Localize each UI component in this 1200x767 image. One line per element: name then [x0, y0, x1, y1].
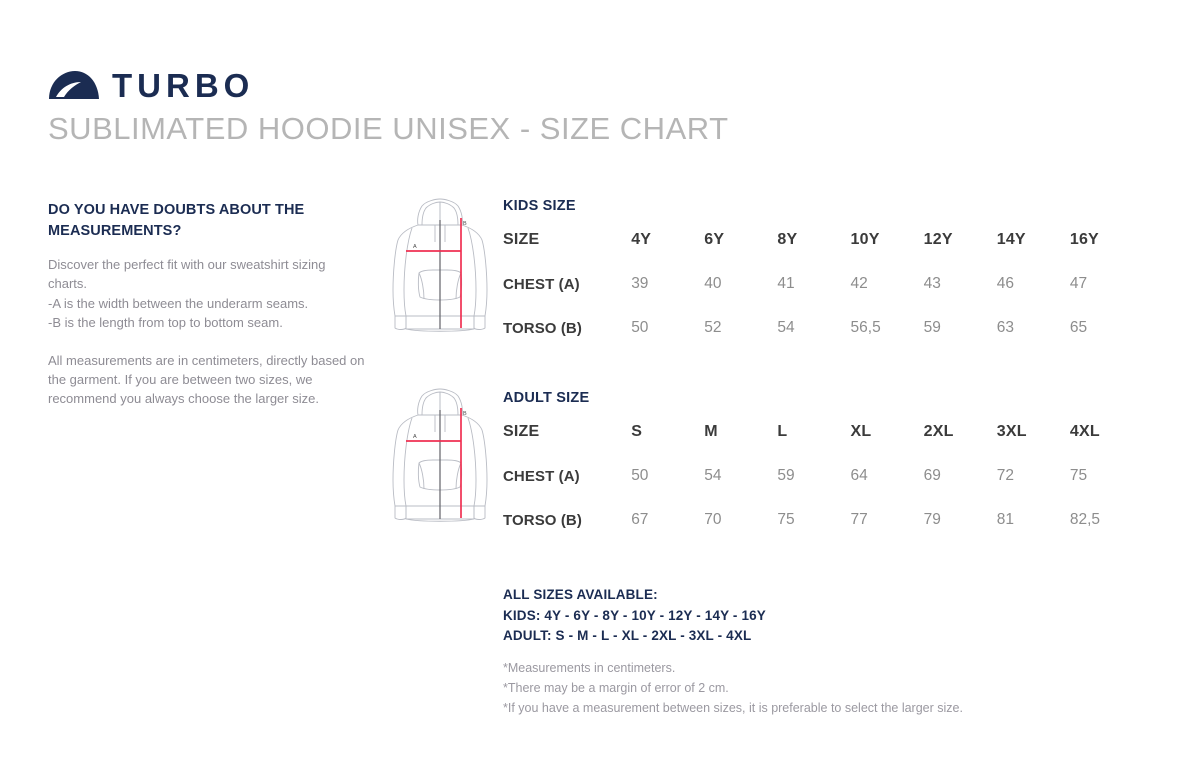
kids-cell: 39 [631, 262, 704, 306]
info-heading: DO YOU HAVE DOUBTS ABOUT THE MEASUREMENT… [48, 200, 368, 242]
figure-label-b: B [463, 411, 467, 417]
adult-size-caption: ADULT SIZE [503, 390, 1143, 406]
kids-cell: 56,5 [851, 306, 924, 350]
adult-cell: 50 [631, 454, 704, 498]
kids-col-header: 8Y [777, 218, 850, 262]
brand-name: TURBO [112, 69, 254, 102]
info-paragraph-2: All measurements are in centimeters, dir… [48, 351, 368, 409]
page-title: SUBLIMATED HOODIE UNISEX - SIZE CHART [48, 110, 1148, 149]
kids-col-header: 12Y [924, 218, 997, 262]
measurement-info-panel: DO YOU HAVE DOUBTS ABOUT THE MEASUREMENT… [48, 200, 368, 409]
adult-size-table: SIZE S M L XL 2XL 3XL 4XL CHEST (A) 50 5… [503, 410, 1143, 542]
kids-cell: 59 [924, 306, 997, 350]
wave-dome-icon [48, 70, 100, 100]
kids-label-header: SIZE [503, 218, 631, 262]
adult-cell: 72 [997, 454, 1070, 498]
adult-cell: 67 [631, 498, 704, 542]
kids-col-header: 10Y [851, 218, 924, 262]
footnote-1: *Measurements in centimeters. [503, 659, 963, 679]
sizes-available-block: ALL SIZES AVAILABLE: KIDS: 4Y - 6Y - 8Y … [503, 585, 766, 647]
adult-row-label: CHEST (A) [503, 454, 631, 498]
adult-cell: 70 [704, 498, 777, 542]
adult-col-header: L [777, 410, 850, 454]
kids-cell: 47 [1070, 262, 1143, 306]
kids-size-table: SIZE 4Y 6Y 8Y 10Y 12Y 14Y 16Y CHEST (A) … [503, 218, 1143, 350]
adult-col-header: 3XL [997, 410, 1070, 454]
sizes-available-adult: ADULT: S - M - L - XL - 2XL - 3XL - 4XL [503, 626, 766, 647]
adult-row-label: TORSO (B) [503, 498, 631, 542]
kids-col-header: 14Y [997, 218, 1070, 262]
kids-size-section: KIDS SIZE SIZE 4Y 6Y 8Y 10Y 12Y 14Y 16Y [503, 198, 1143, 350]
kids-cell: 42 [851, 262, 924, 306]
table-row: CHEST (A) 50 54 59 64 69 72 75 [503, 454, 1143, 498]
adult-size-section: ADULT SIZE SIZE S M L XL 2XL 3XL 4XL [503, 390, 1143, 542]
kids-cell: 40 [704, 262, 777, 306]
table-row: TORSO (B) 67 70 75 77 79 81 82,5 [503, 498, 1143, 542]
size-chart-page: TURBO SUBLIMATED HOODIE UNISEX - SIZE CH… [0, 0, 1200, 767]
adult-col-header: M [704, 410, 777, 454]
adult-cell: 77 [851, 498, 924, 542]
figure-label-b: B [463, 221, 467, 227]
table-row: CHEST (A) 39 40 41 42 43 46 47 [503, 262, 1143, 306]
adult-col-header: 2XL [924, 410, 997, 454]
brand-logo: TURBO [48, 66, 1148, 104]
adult-cell: 64 [851, 454, 924, 498]
footnote-2: *There may be a margin of error of 2 cm. [503, 679, 963, 699]
figure-label-a: A [413, 434, 417, 440]
hoodie-diagram-adult: A B [388, 388, 492, 543]
kids-cell: 41 [777, 262, 850, 306]
hoodie-diagram-kids: A B [388, 198, 492, 353]
adult-cell: 59 [777, 454, 850, 498]
adult-cell: 75 [1070, 454, 1143, 498]
sizes-available-kids: KIDS: 4Y - 6Y - 8Y - 10Y - 12Y - 14Y - 1… [503, 606, 766, 627]
info-paragraph-1: Discover the perfect fit with our sweats… [48, 255, 368, 332]
adult-cell: 69 [924, 454, 997, 498]
kids-size-caption: KIDS SIZE [503, 198, 1143, 214]
kids-col-header: 6Y [704, 218, 777, 262]
kids-cell: 54 [777, 306, 850, 350]
adult-col-header: 4XL [1070, 410, 1143, 454]
footnotes-block: *Measurements in centimeters. *There may… [503, 659, 963, 718]
adult-cell: 81 [997, 498, 1070, 542]
kids-cell: 46 [997, 262, 1070, 306]
kids-row-label: CHEST (A) [503, 262, 631, 306]
adult-cell: 54 [704, 454, 777, 498]
table-row: TORSO (B) 50 52 54 56,5 59 63 65 [503, 306, 1143, 350]
kids-cell: 63 [997, 306, 1070, 350]
footnote-3: *If you have a measurement between sizes… [503, 699, 963, 719]
adult-cell: 75 [777, 498, 850, 542]
table-header-row: SIZE 4Y 6Y 8Y 10Y 12Y 14Y 16Y [503, 218, 1143, 262]
kids-col-header: 4Y [631, 218, 704, 262]
adult-cell: 82,5 [1070, 498, 1143, 542]
adult-label-header: SIZE [503, 410, 631, 454]
kids-cell: 43 [924, 262, 997, 306]
kids-cell: 65 [1070, 306, 1143, 350]
kids-cell: 50 [631, 306, 704, 350]
page-header: TURBO SUBLIMATED HOODIE UNISEX - SIZE CH… [48, 66, 1148, 149]
figure-label-a: A [413, 244, 417, 250]
adult-col-header: S [631, 410, 704, 454]
adult-col-header: XL [851, 410, 924, 454]
adult-cell: 79 [924, 498, 997, 542]
kids-cell: 52 [704, 306, 777, 350]
kids-row-label: TORSO (B) [503, 306, 631, 350]
kids-col-header: 16Y [1070, 218, 1143, 262]
table-header-row: SIZE S M L XL 2XL 3XL 4XL [503, 410, 1143, 454]
sizes-available-title: ALL SIZES AVAILABLE: [503, 585, 766, 606]
